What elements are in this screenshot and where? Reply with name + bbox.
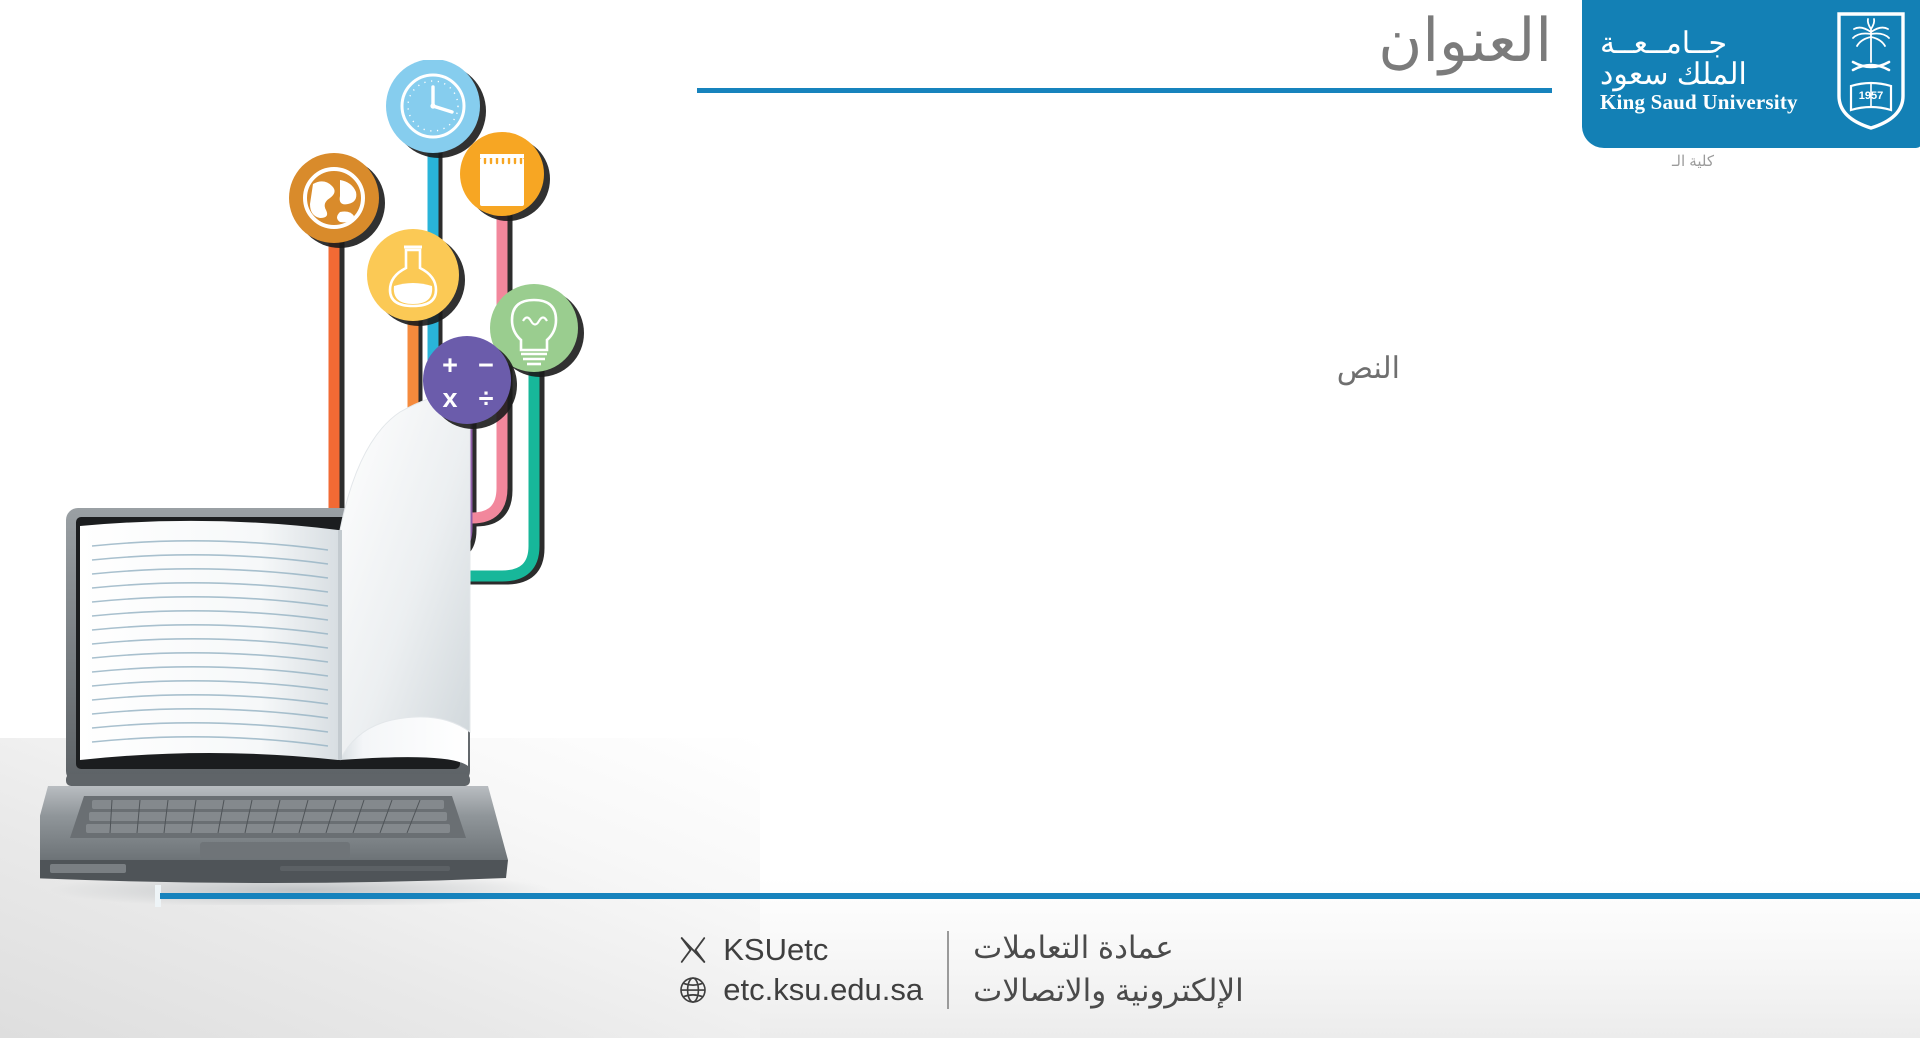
node-notepad [460,132,550,221]
laptop-keys [86,800,450,833]
book-1957: 1957 [1851,83,1891,110]
open-book [80,394,470,766]
x-handle-text: KSUetc [723,931,828,969]
node-flask [367,229,465,326]
svg-text:+: + [442,350,458,380]
logo-english-name: King Saud University [1600,92,1798,113]
globe-icon [676,973,710,1007]
department-line-1: عمادة التعاملات [973,927,1244,970]
ksu-logo: 1957 جــامــعــة الملك سعود King Saud Un… [1582,0,1920,148]
ksu-shield-emblem: 1957 [1834,10,1908,132]
svg-text:−: − [478,350,494,380]
node-clock [386,60,486,158]
website-text: etc.ksu.edu.sa [723,971,923,1009]
presentation-slide: + − x ÷ العنوان النص [0,0,1920,1038]
ksu-logo-wordmark: جــامــعــة الملك سعود King Saud Univers… [1600,29,1824,113]
laptop-trackpad [200,842,350,858]
svg-text:÷: ÷ [479,383,494,413]
book-spine [338,530,342,760]
book-page-flipping [340,394,470,760]
notepad-icon [480,154,524,206]
laptop-hinge [66,774,470,786]
node-globe [289,153,385,248]
contact-x-handle[interactable]: KSUetc [676,931,923,969]
footer-contacts: KSUetc etc.ksu.edu.sa [676,931,945,1009]
laptop-speaker-grill [50,864,126,873]
laptop-front-slot [280,866,450,871]
footer-separator [947,931,949,1009]
logo-arabic-line-2: الملك سعود [1600,60,1747,90]
department-line-2: الإلكترونية والاتصالات [973,970,1244,1013]
footer-divider-rule [160,893,1920,899]
illustration-laptop-book: + − x ÷ [40,60,660,905]
page-title: العنوان [1378,6,1552,75]
body-text: النص [1337,345,1400,393]
contact-website[interactable]: etc.ksu.edu.sa [676,971,923,1009]
x-twitter-icon [676,933,710,967]
college-label: كلية الـ [1592,152,1892,170]
title-underline-rule [697,88,1552,93]
department-name: عمادة التعاملات الإلكترونية والاتصالات [951,927,1244,1013]
svg-text:x: x [442,383,457,413]
logo-arabic-line-1: جــامــعــة [1600,29,1727,59]
footer: عمادة التعاملات الإلكترونية والاتصالات K… [0,915,1920,1025]
book-page-left [80,521,338,760]
svg-text:1957: 1957 [1859,90,1883,102]
